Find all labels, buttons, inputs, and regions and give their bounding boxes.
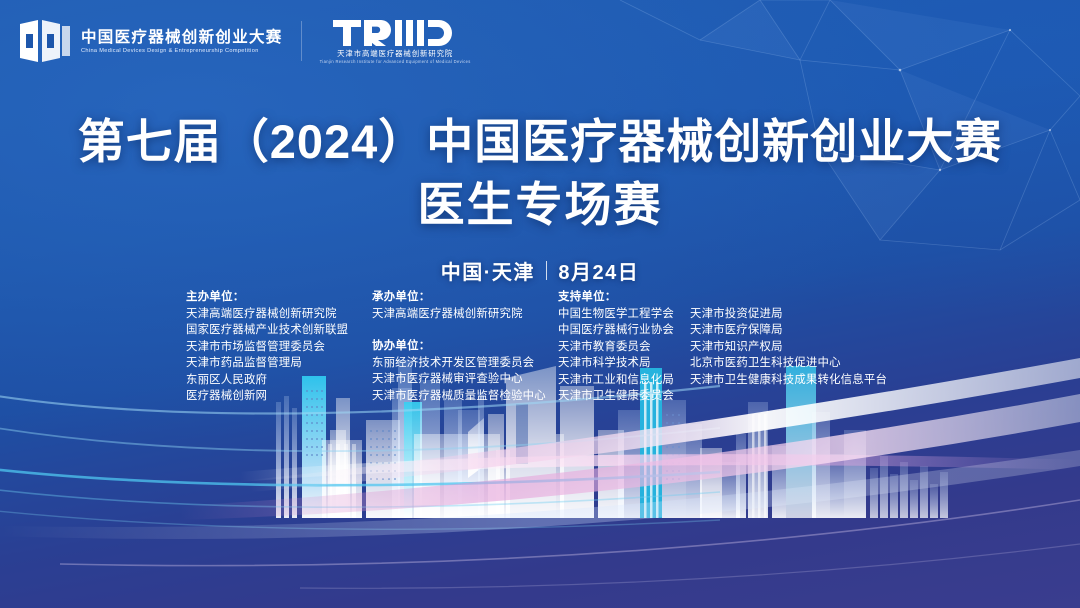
organizer-item: 天津市医疗保障局 [690,322,906,339]
meta-divider [546,261,548,280]
organizer-heading: 主办单位： [186,289,372,306]
organizer-column-4: 天津市投资促进局 天津市医疗保障局 天津市知识产权局 北京市医药卫生科技促进中心… [690,289,906,388]
competition-logo-name-cn: 中国医疗器械创新创业大赛 [81,29,283,46]
event-banner: 中国医疗器械创新创业大赛 China Medical Devices Desig… [0,0,1080,608]
organizer-item: 天津市知识产权局 [690,339,906,356]
organizer-group: 承办单位： 天津高端医疗器械创新研究院 [372,289,558,322]
organizer-item: 天津高端医疗器械创新研究院 [186,306,372,323]
organizer-column-3: 支持单位： 中国生物医学工程学会 中国医疗器械行业协会 天津市教育委员会 天津市… [558,289,690,405]
organizer-item: 天津市医疗器械审评查验中心 [372,371,558,388]
organizer-item: 天津高端医疗器械创新研究院 [372,306,558,323]
organizer-item: 天津市教育委员会 [558,339,690,356]
title-block: 第七届（2024）中国医疗器械创新创业大赛 医生专场赛 中国·天津 8月24日 [0,112,1080,285]
organizer-item: 天津市卫生健康科技成果转化信息平台 [690,372,906,389]
organizer-item: 天津市卫生健康委员会 [558,388,690,405]
organizer-item: 天津市科学技术局 [558,355,690,372]
organizer-column-2: 承办单位： 天津高端医疗器械创新研究院 协办单位： 东丽经济技术开发区管理委员会… [372,289,558,404]
event-date: 8月24日 [558,256,639,285]
logo-divider [301,21,302,61]
organizer-column-1: 主办单位： 天津高端医疗器械创新研究院 国家医疗器械产业技术创新联盟 天津市市场… [186,289,372,405]
organizer-item: 天津市药品监督管理局 [186,355,372,372]
organizer-item: 东丽经济技术开发区管理委员会 [372,355,558,372]
competition-logo: 中国医疗器械创新创业大赛 China Medical Devices Desig… [18,18,283,64]
organizer-item: 中国生物医学工程学会 [558,306,690,323]
triid-wordmark-icon [333,18,457,48]
organizer-item: 天津市投资促进局 [690,306,906,323]
triid-logo-name-cn: 天津市高端医疗器械创新研究院 [337,50,453,58]
organizer-heading: 支持单位： [558,289,690,306]
organizer-group: 协办单位： 东丽经济技术开发区管理委员会 天津市医疗器械审评查验中心 天津市医疗… [372,338,558,404]
event-title-line2: 医生专场赛 [0,175,1080,234]
organizer-group: 天津市投资促进局 天津市医疗保障局 天津市知识产权局 北京市医药卫生科技促进中心… [690,306,906,389]
event-title-line1: 第七届（2024）中国医疗器械创新创业大赛 [0,112,1080,171]
light-streaks-left [0,380,720,590]
organizer-item: 北京市医药卫生科技促进中心 [690,355,906,372]
organizer-group: 支持单位： 中国生物医学工程学会 中国医疗器械行业协会 天津市教育委员会 天津市… [558,289,690,405]
organizer-item: 东丽区人民政府 [186,372,372,389]
open-door-logo-icon [18,18,72,64]
event-location: 中国·天津 [441,256,535,285]
organizer-heading: 协办单位： [372,338,558,355]
organizer-item: 天津市医疗器械质量监督检验中心 [372,388,558,405]
event-meta-line: 中国·天津 8月24日 [0,256,1080,285]
organizer-item: 天津市工业和信息化局 [558,372,690,389]
triid-logo-name-en: Tianjin Research Institute for Advanced … [320,60,471,65]
organizer-item: 天津市市场监督管理委员会 [186,339,372,356]
horizon-glow [0,426,1080,496]
competition-logo-name-en: China Medical Devices Design & Entrepren… [81,48,283,54]
organizer-item: 中国医疗器械行业协会 [558,322,690,339]
organizer-group: 主办单位： 天津高端医疗器械创新研究院 国家医疗器械产业技术创新联盟 天津市市场… [186,289,372,405]
logo-bar: 中国医疗器械创新创业大赛 China Medical Devices Desig… [18,18,471,65]
organizer-columns: 主办单位： 天津高端医疗器械创新研究院 国家医疗器械产业技术创新联盟 天津市市场… [186,289,906,405]
organizer-item: 国家医疗器械产业技术创新联盟 [186,322,372,339]
triid-logo: 天津市高端医疗器械创新研究院 Tianjin Research Institut… [320,18,471,65]
organizer-heading: 承办单位： [372,289,558,306]
organizer-item: 医疗器械创新网 [186,388,372,405]
